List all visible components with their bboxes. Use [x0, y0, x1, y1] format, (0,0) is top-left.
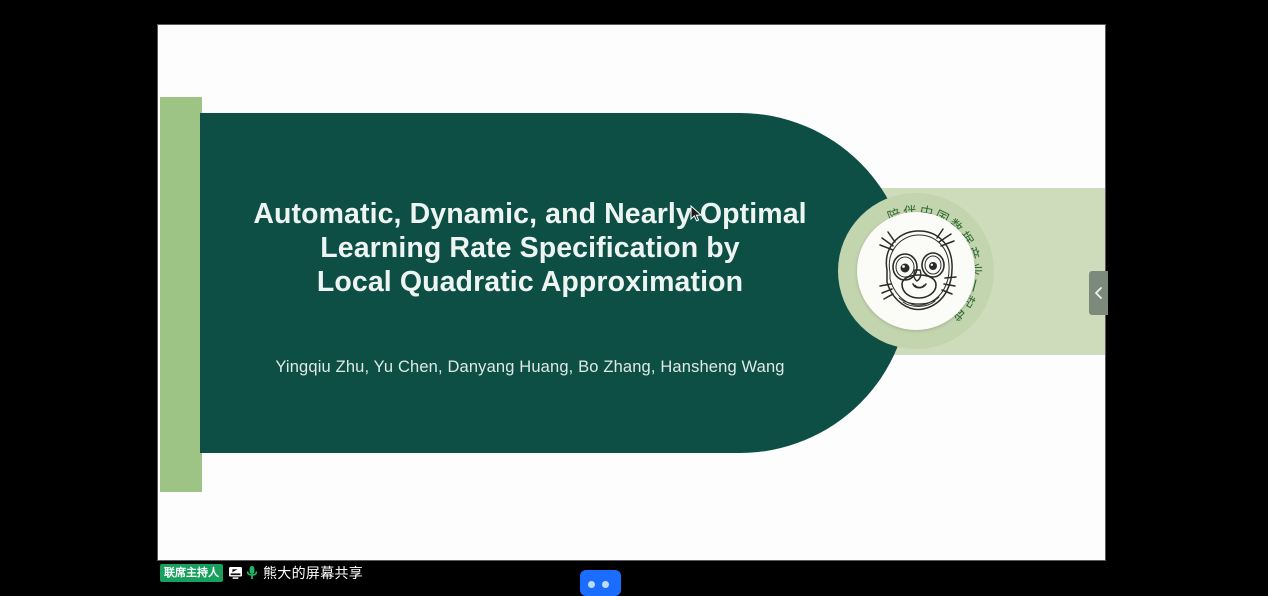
status-badge: 联席主持人	[160, 564, 223, 582]
microphone-icon	[246, 565, 258, 580]
status-bar-icons	[228, 565, 258, 580]
panda-sketch-icon	[857, 212, 975, 330]
share-label: 熊大的屏幕共享	[263, 563, 363, 583]
slide-authors: Yingqiu Zhu, Yu Chen, Danyang Huang, Bo …	[200, 358, 860, 377]
share-status-bar: 联席主持人 熊大的屏幕共享	[158, 560, 363, 585]
chevron-left-icon	[1094, 286, 1104, 300]
collapse-panel-button[interactable]	[1089, 271, 1108, 315]
mouse-pointer-icon	[690, 205, 703, 228]
meeting-controls-button[interactable]	[580, 570, 621, 596]
slide-accent-bar	[160, 97, 202, 492]
screen-share-viewport: Automatic, Dynamic, and Nearly Optimal L…	[0, 0, 1268, 585]
brand-logo: 陪伴中国数据产业一起成长	[838, 193, 994, 349]
monitor-share-icon	[228, 566, 243, 580]
shared-slide: Automatic, Dynamic, and Nearly Optimal L…	[158, 25, 1105, 560]
page-title: Automatic, Dynamic, and Nearly Optimal L…	[200, 197, 860, 299]
